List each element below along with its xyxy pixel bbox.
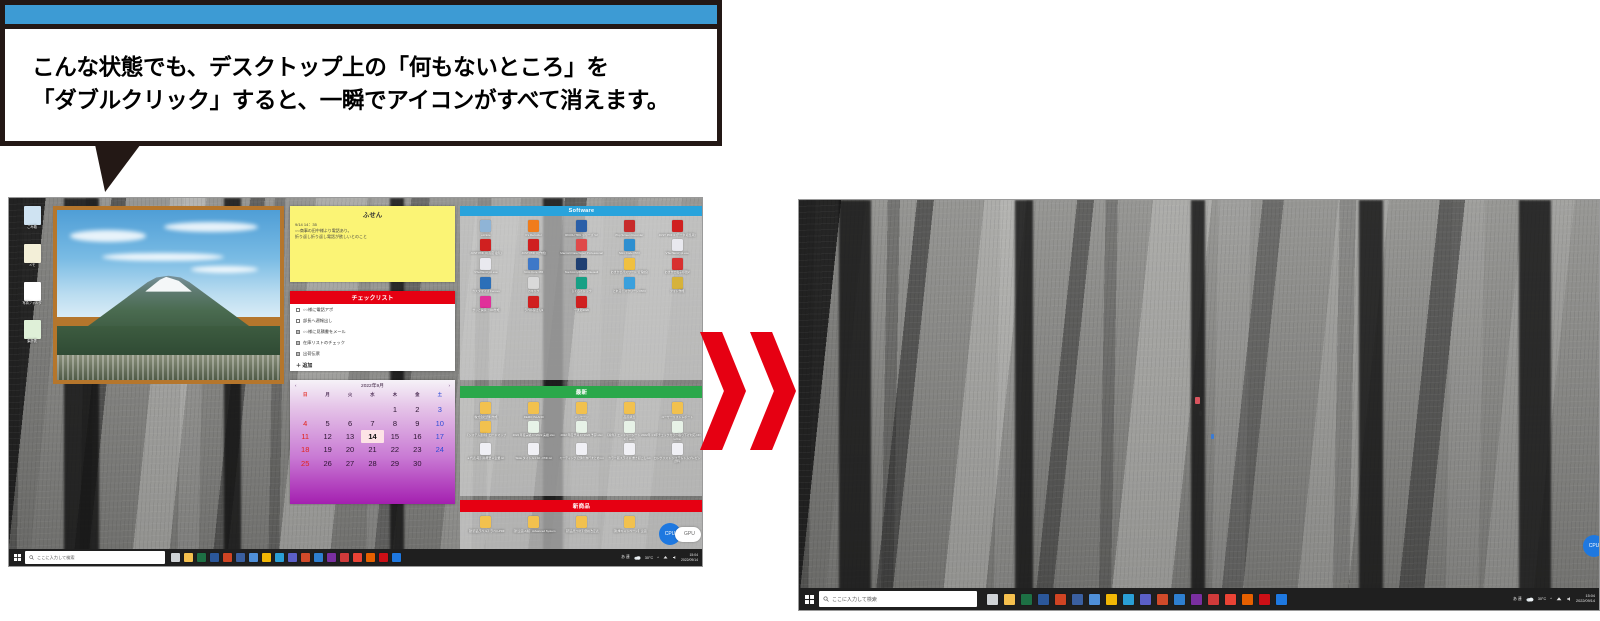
fence-item-label: NordicAnyWhere Filevault — [558, 271, 606, 274]
calendar-day-cell[interactable]: 8 — [384, 416, 406, 429]
taskbar-app-opera[interactable] — [1259, 594, 1270, 605]
callout-bubble: こんな状態でも、デスクトップ上の「何もないところ」を 「ダブルクリック」すると、… — [0, 0, 722, 155]
fence-item[interactable]: 2022 年度予算 FY2022 予算.xlsx — [558, 421, 606, 441]
photo-frame-fuji[interactable] — [53, 206, 284, 384]
fence-item-label: カスタマイズ Fences — [462, 290, 510, 293]
checkbox-icon[interactable] — [296, 330, 300, 334]
taskbar-app-chrome[interactable] — [1225, 594, 1236, 605]
taskbar-app-file-explorer[interactable] — [184, 553, 193, 562]
fence-item-icon — [480, 296, 491, 308]
taskbar-app-edge[interactable] — [1123, 594, 1134, 605]
calendar-day-cell[interactable]: 4 — [294, 416, 316, 429]
checklist-row[interactable]: 在庫リストのチェック — [290, 337, 455, 348]
calendar-day-cell[interactable]: 26 — [316, 457, 338, 470]
taskbar-app-powerpoint[interactable] — [1055, 594, 1066, 605]
fence-software-items[interactable]: eLNoteIt's RecorderRICOH TDU シリーズ V2iTop… — [460, 216, 703, 317]
sticky-note-title: ふせん — [290, 206, 455, 219]
fence-item-label: VTechEncrypt.exe — [653, 252, 701, 255]
checklist-row[interactable]: ○○様に見積書をメール — [290, 326, 455, 337]
taskbar-app-file-explorer[interactable] — [1004, 594, 1015, 605]
taskbar-app-task-view[interactable] — [987, 594, 998, 605]
taskbar-app-notepad[interactable] — [1089, 594, 1100, 605]
fence-item-icon — [480, 421, 491, 433]
fence-item[interactable]: iTop Screen Recorder — [605, 220, 653, 237]
fence-item[interactable]: eLNote — [462, 220, 510, 237]
checklist-items[interactable]: ○○様に電話アポ部長へ週報出し○○様に見積書をメール在庫リストのチェック出荷伝票 — [290, 304, 455, 359]
fence-item-label: 【新商品ラベル】ラベルPDF — [462, 530, 510, 533]
search-icon — [29, 555, 34, 560]
network-icon-after[interactable] — [1556, 596, 1562, 602]
fence-item-icon — [672, 421, 683, 433]
desktop-icon-spreadsheet-file[interactable]: 集計表 — [17, 320, 47, 344]
fence-item-icon — [576, 239, 587, 251]
fence-software-title: Software — [460, 206, 703, 216]
fence-item-label: RICOH TDU シリーズ V2 — [558, 234, 606, 237]
system-tray-before[interactable]: あ 連 30°C ^ 15:04 2022/09/14 — [621, 553, 702, 562]
fence-item-label: サッと開票！CD作成 — [462, 309, 510, 312]
fence-item-icon — [576, 421, 587, 433]
desktop-before[interactable]: ごみ箱メモ写真フォルダ集計表 ふせん 9/14 14：35○○商事の田中様より電… — [8, 197, 703, 567]
spreadsheet-file-icon — [24, 320, 41, 339]
desktop-icon-text-document[interactable]: メモ — [17, 244, 47, 268]
fence-item-label: 【システム運用】ロードマップ — [462, 434, 510, 437]
fence-item[interactable]: 品質調査 — [605, 402, 653, 419]
calendar-title: 2022年9月 — [361, 382, 384, 389]
calendar-next-button[interactable]: › — [449, 383, 451, 388]
fence-item-label: VTechEncrypt.exe — [462, 271, 510, 274]
fence-item-icon — [672, 258, 683, 270]
fence-item[interactable]: フォト作成 — [653, 277, 701, 294]
double-chevron-right-icon — [700, 332, 796, 450]
search-placeholder-after: ここに入力して検索 — [832, 596, 877, 603]
fence-item-icon — [576, 443, 587, 455]
taskbar-app-opera[interactable] — [379, 553, 388, 562]
calendar-day-cell[interactable]: 6 — [339, 416, 361, 429]
calendar-prev-button[interactable]: ‹ — [295, 383, 297, 388]
cpu-gauge-after[interactable]: CPU — [1583, 535, 1600, 557]
fuji-photo — [57, 210, 280, 380]
sticky-note-widget[interactable]: ふせん 9/14 14：35○○商事の田中様より電話あり。折り返し折り返し電話が… — [290, 206, 455, 282]
fence-item[interactable]: ラベル屋さん9 — [510, 296, 558, 313]
calendar-blank — [339, 403, 361, 416]
fence-item-label: eLNote — [462, 234, 510, 237]
calendar-day-cell[interactable]: 30 — [406, 457, 428, 470]
fence-item[interactable]: VTechEncrypt.exe — [653, 239, 701, 256]
fence-item-label: 品質調査 — [605, 416, 653, 419]
calendar-today-cell[interactable]: 14 — [361, 430, 383, 443]
checklist-row[interactable]: 部長へ週報出し — [290, 315, 455, 326]
fence-software[interactable]: Software eLNoteIt's RecorderRICOH TDU シリ… — [460, 206, 703, 380]
calendar-dow: 木 — [384, 391, 406, 399]
fence-item[interactable]: NordicAnyWhere Filevault — [558, 258, 606, 275]
calendar-blank — [316, 403, 338, 416]
calendar-dow: 月 — [316, 391, 338, 399]
fence-item[interactable]: ロングリスト システムトムプレゼン資料 — [653, 443, 701, 463]
recycle-bin-icon — [24, 206, 41, 225]
fence-item[interactable]: Slide タイトル1 02 - PDF.txt — [510, 443, 558, 463]
fence-item-label: Macrorit Data Wiper Professional — [558, 252, 606, 255]
taskbar-app-browser[interactable] — [392, 553, 401, 562]
clock-after[interactable]: 15:04 2022/09/14 — [1576, 594, 1595, 603]
calendar-blank — [361, 403, 383, 416]
checklist-label: 在庫リストのチェック — [303, 340, 345, 346]
fence-latest-title: 最新 — [460, 386, 703, 398]
fence-item-icon — [624, 277, 635, 289]
taskbar-app-excel[interactable] — [197, 553, 206, 562]
fence-item-label: おまかせパスワード 管理[超] — [605, 271, 653, 274]
fence-item[interactable]: JUST PDF 4 [高度 電気] — [462, 239, 510, 256]
fence-item[interactable]: ミーティング記録の進行まとめ.txt — [558, 443, 606, 463]
checklist-row[interactable]: 出荷伝票 — [290, 348, 455, 359]
calendar-day-cell[interactable]: 17 — [429, 430, 451, 443]
callout-tail — [95, 144, 151, 192]
tray-chevron-up-icon[interactable]: ^ — [657, 556, 659, 560]
taskbar-apps-after[interactable] — [987, 594, 1287, 605]
desktop-after[interactable]: CPU ここに入力して検索 あ 連 30°C ^ 15:04 2022/ — [798, 199, 1600, 611]
checkbox-icon[interactable] — [296, 352, 300, 356]
fence-item-label: フォト作成 — [653, 290, 701, 293]
calendar-day-cell[interactable]: 12 — [316, 430, 338, 443]
system-monitor-widget-before[interactable]: CPU GPU — [659, 523, 701, 545]
taskbar-app-task-view[interactable] — [171, 553, 180, 562]
fence-item-icon — [528, 239, 539, 251]
fence-new-products-title: 新商品 — [460, 500, 703, 512]
fence-item-icon — [528, 277, 539, 289]
checkbox-icon[interactable] — [296, 341, 300, 345]
calendar-day-cell[interactable]: 20 — [339, 443, 361, 456]
fence-item[interactable]: カラー版スライド 書き起こし.txt — [605, 443, 653, 463]
fence-item-label: 2022 年度実績 FY2022 実績.xlsx — [510, 434, 558, 437]
fence-item-label: メッセージ — [558, 416, 606, 419]
checklist-label: 出荷伝票 — [303, 351, 320, 357]
taskbar-app-notepad[interactable] — [249, 553, 258, 562]
fence-item-icon — [480, 277, 491, 289]
calendar-day-cell[interactable]: 13 — [339, 430, 361, 443]
checkbox-icon[interactable] — [296, 308, 300, 312]
calendar-day-cell[interactable]: 29 — [384, 457, 406, 470]
calendar-day-cell[interactable]: 5 — [316, 416, 338, 429]
fence-item-icon — [528, 258, 539, 270]
fence-item[interactable]: RICOH TDU シリーズ V2 — [558, 220, 606, 237]
checklist-label: 部長へ週報出し — [303, 318, 332, 324]
fence-item[interactable]: DEMO ISLAND — [510, 402, 558, 419]
cloud-icon-after — [1526, 596, 1534, 602]
fence-item[interactable]: 【秋季キャンペーン】企画 — [605, 516, 653, 533]
taskbar-app-star-app[interactable] — [1106, 594, 1117, 605]
fence-item-label: Nitro Core 365 — [510, 271, 558, 274]
cloud-icon — [634, 555, 641, 560]
fence-item-label: 【秋季キャンペーン】企画 — [605, 530, 653, 533]
taskbar-app-firefox[interactable] — [1242, 594, 1253, 605]
fence-item[interactable]: 株式会社資料作成 — [462, 402, 510, 419]
fence-item-icon — [672, 277, 683, 289]
desktop-icon-picture-file[interactable]: 写真フォルダ — [17, 282, 47, 306]
fence-item-label: JUST PDF 4 [高度 電気] — [462, 252, 510, 255]
fence-item-icon — [576, 516, 587, 528]
second-climber-figure — [1211, 434, 1214, 439]
fence-item[interactable]: おまかせ電子印鑑2 — [653, 258, 701, 275]
fence-item-label: らくらくドック — [558, 290, 606, 293]
fence-item-label: とれる！スクリーン PRO — [605, 290, 653, 293]
taskbar-app-photos[interactable] — [1174, 594, 1185, 605]
taskbar-before[interactable]: ここに入力して検索 あ 連 30°C ^ 15:04 2022/09/14 — [9, 549, 702, 566]
climber-figure — [1195, 397, 1200, 404]
calendar-dow-row: 日月火水木金土 — [290, 391, 455, 403]
fence-item[interactable]: 一太郎2020 — [558, 296, 606, 313]
fence-item-icon — [528, 421, 539, 433]
calendar-day-cell[interactable]: 15 — [384, 430, 406, 443]
chevron-1 — [700, 332, 746, 450]
taskbar-app-star-app[interactable] — [262, 553, 271, 562]
fence-item[interactable]: 2022 年度実績 FY2022 実績.xlsx — [510, 421, 558, 441]
desktop-icon-label: メモ — [17, 264, 47, 268]
fence-item-label: iTop Screen Recorder — [605, 234, 653, 237]
fence-item-icon — [672, 239, 683, 251]
search-input-after[interactable]: ここに入力して検索 — [819, 591, 977, 607]
calendar-day-cell[interactable]: 2 — [406, 403, 428, 416]
sticky-note-body: 9/14 14：35○○商事の田中様より電話あり。折り返し折り返し電話が欲しいと… — [290, 219, 455, 243]
fence-item-label: 【商品見つけ】価格改定表 — [558, 530, 606, 533]
fence-item-label: ユーザーリストレポート — [653, 416, 701, 419]
fence-item-icon — [528, 516, 539, 528]
climber-shadow — [1199, 411, 1202, 416]
taskbar-app-excel[interactable] — [1021, 594, 1032, 605]
fence-item-label: JUST PDF 4 [データ 収集版] — [653, 234, 701, 237]
calendar-day-cell[interactable]: 27 — [339, 457, 361, 470]
taskbar-app-teams[interactable] — [288, 553, 297, 562]
checkbox-icon[interactable] — [296, 319, 300, 323]
calendar-day-cell[interactable]: 22 — [384, 443, 406, 456]
weather-temp-before[interactable]: 30°C — [645, 556, 653, 560]
fence-item-icon — [480, 239, 491, 251]
fence-item-icon — [624, 516, 635, 528]
fence-item-label: Slide タイトル1 02 - PDF.txt — [510, 457, 558, 460]
fence-item-icon — [624, 402, 635, 414]
taskbar-app-word[interactable] — [1038, 594, 1049, 605]
calendar-day-cell[interactable]: 25 — [294, 457, 316, 470]
fence-item[interactable]: a 代表・取引先概要 a 企業.txt — [462, 443, 510, 463]
system-tray-after[interactable]: あ 連 30°C ^ 15:04 2022/09/14 — [1513, 594, 1599, 603]
fence-item-label: ロングリスト システムトムプレゼン資料 — [653, 457, 701, 464]
fence-latest[interactable]: 最新 株式会社資料作成DEMO ISLANDメッセージ品質調査ユーザーリストレポ… — [460, 386, 703, 496]
ime-indicator-before[interactable]: あ 連 — [621, 555, 630, 560]
calendar-nav[interactable]: ‹ 2022年9月 › — [290, 380, 455, 391]
calendar-day-cell[interactable]: 3 — [429, 403, 451, 416]
page-root: こんな状態でも、デスクトップ上の「何もないところ」を 「ダブルクリック」すると、… — [0, 0, 1600, 621]
checklist-label: ○○様に見積書をメール — [303, 329, 346, 335]
desktop-icon-label: 集計表 — [17, 340, 47, 344]
fence-item[interactable]: 【新企画 A案】Advanced System — [510, 516, 558, 533]
fence-item-label: DEMO ISLAND — [510, 416, 558, 419]
calendar-day-cell[interactable]: 28 — [361, 457, 383, 470]
fence-item[interactable]: カキソク — [510, 277, 558, 294]
fence-item[interactable]: らくらくドック — [558, 277, 606, 294]
taskbar-app-browser[interactable] — [1276, 594, 1287, 605]
calendar-day-cell[interactable]: 11 — [294, 430, 316, 443]
taskbar-app-teams[interactable] — [1140, 594, 1151, 605]
taskbar-app-powerpoint[interactable] — [223, 553, 232, 562]
taskbar-app-mail[interactable] — [236, 553, 245, 562]
taskbar-app-edge[interactable] — [275, 553, 284, 562]
search-icon-after — [823, 596, 829, 602]
calendar-day-cell[interactable]: 18 — [294, 443, 316, 456]
calendar-day-cell[interactable]: 21 — [361, 443, 383, 456]
fence-item-icon — [528, 296, 539, 308]
calendar-day-cell[interactable]: 16 — [406, 430, 428, 443]
fence-item-label: JUST PDF 4 [作成] — [510, 252, 558, 255]
calendar-blank — [294, 403, 316, 416]
taskbar-apps-before[interactable] — [171, 553, 401, 562]
fence-item[interactable]: JUST PDF 4 [作成] — [510, 239, 558, 256]
calendar-day-cell[interactable]: 23 — [406, 443, 428, 456]
fence-item-label: It's Recorder — [510, 234, 558, 237]
system-monitor-widget-after[interactable]: CPU — [1583, 535, 1600, 557]
desktop-icon-label: ごみ箱 — [17, 226, 47, 230]
windows-start-icon[interactable] — [9, 554, 25, 561]
fence-item-icon — [624, 258, 635, 270]
calendar-day-cell[interactable]: 7 — [361, 416, 383, 429]
fence-item-label: Nitro Code PRO — [605, 252, 653, 255]
fence-item-icon — [576, 277, 587, 289]
fence-latest-items[interactable]: 株式会社資料作成DEMO ISLANDメッセージ品質調査ユーザーリストレポート【… — [460, 398, 703, 468]
fence-item-label: 【案件】エントリーシート 2022年 12月.docx — [605, 434, 653, 441]
fence-item[interactable]: 【案件】エントリーシート 2022年 12月.docx — [605, 421, 653, 441]
wallpaper-cliff-after — [799, 200, 1599, 610]
fence-item[interactable]: サッと開票！CD作成 — [462, 296, 510, 313]
gpu-gauge[interactable]: GPU — [675, 527, 701, 542]
fence-item-icon — [624, 421, 635, 433]
fence-item[interactable]: JUST PDF 4 [データ 収集版] — [653, 220, 701, 237]
fence-item[interactable]: メッセージ — [558, 402, 606, 419]
calendar-day-cell[interactable]: 1 — [384, 403, 406, 416]
chevron-2 — [750, 332, 796, 450]
fence-item[interactable]: ユーザーリストレポート — [653, 402, 701, 419]
taskbar-app-mail[interactable] — [1072, 594, 1083, 605]
search-placeholder-before: ここに入力して検索 — [37, 555, 75, 561]
calendar-day-grid[interactable]: 1234567891011121314151617181920212223242… — [290, 403, 455, 474]
calendar-dow: 水 — [361, 391, 383, 399]
calendar-day-cell[interactable]: 19 — [316, 443, 338, 456]
taskbar-app-calculator[interactable] — [301, 553, 310, 562]
fence-item-icon — [672, 443, 683, 455]
fence-item-label: 3年チェックカラー取り下げ対応 NOL2Ca — [653, 434, 701, 441]
fence-item-label: ミーティング記録の進行まとめ.txt — [558, 457, 606, 460]
callout-top-bar — [0, 0, 722, 24]
calendar-day-cell[interactable]: 9 — [406, 416, 428, 429]
taskbar-app-store[interactable] — [1208, 594, 1219, 605]
taskbar-after[interactable]: ここに入力して検索 あ 連 30°C ^ 15:04 2022/09/14 — [799, 588, 1599, 610]
fence-item[interactable]: VTechEncrypt.exe — [462, 258, 510, 275]
text-document-icon — [24, 244, 41, 263]
fence-item[interactable]: Macrorit Data Wiper Professional — [558, 239, 606, 256]
fence-item[interactable]: Nitro Code PRO — [605, 239, 653, 256]
checklist-label: ○○様に電話アポ — [303, 307, 333, 313]
fence-item-icon — [672, 220, 683, 232]
calendar-dow: 金 — [406, 391, 428, 399]
fence-item-icon — [480, 258, 491, 270]
picture-file-icon — [24, 282, 41, 301]
tray-chevron-up-icon-after[interactable]: ^ — [1550, 597, 1552, 601]
taskbar-app-calculator[interactable] — [1157, 594, 1168, 605]
calendar-dow: 土 — [429, 391, 451, 399]
fence-item-icon — [480, 402, 491, 414]
calendar-dow: 火 — [339, 391, 361, 399]
fence-item-label: 株式会社資料作成 — [462, 416, 510, 419]
fence-item[interactable]: 【商品見つけ】価格改定表 — [558, 516, 606, 533]
fence-item-icon — [576, 296, 587, 308]
fence-item-label: カラー版スライド 書き起こし.txt — [605, 457, 653, 460]
weather-temp-after[interactable]: 30°C — [1538, 597, 1546, 601]
callout-body: こんな状態でも、デスクトップ上の「何もないところ」を 「ダブルクリック」すると、… — [0, 24, 722, 146]
fence-item-icon — [480, 220, 491, 232]
fence-item[interactable]: Nitro Core 365 — [510, 258, 558, 275]
fence-item-icon — [624, 239, 635, 251]
fence-item-label: ラベル屋さん9 — [510, 309, 558, 312]
checklist-row[interactable]: ○○様に電話アポ — [290, 304, 455, 315]
taskbar-app-onenote[interactable] — [327, 553, 336, 562]
fence-item-icon — [528, 443, 539, 455]
clock-before[interactable]: 15:04 2022/09/14 — [681, 553, 698, 562]
fence-item-icon — [624, 220, 635, 232]
taskbar-app-word[interactable] — [210, 553, 219, 562]
fence-item-icon — [624, 443, 635, 455]
fence-item[interactable]: 【システム運用】ロードマップ — [462, 421, 510, 441]
ime-indicator-after[interactable]: あ 連 — [1513, 597, 1522, 602]
fence-item-label: 一太郎2020 — [558, 309, 606, 312]
fence-item[interactable]: とれる！スクリーン PRO — [605, 277, 653, 294]
taskbar-app-chrome[interactable] — [353, 553, 362, 562]
fence-item-icon — [528, 402, 539, 414]
taskbar-app-onenote[interactable] — [1191, 594, 1202, 605]
fence-item[interactable]: It's Recorder — [510, 220, 558, 237]
checklist-title: チェックリスト — [290, 291, 455, 304]
fence-item[interactable]: おまかせパスワード 管理[超] — [605, 258, 653, 275]
fence-item-label: 2022 年度予算 FY2022 予算.xlsx — [558, 434, 606, 437]
fence-item-icon — [528, 220, 539, 232]
fence-item-label: カキソク — [510, 290, 558, 293]
network-icon[interactable] — [663, 555, 668, 560]
fence-item[interactable]: 【新商品ラベル】ラベルPDF — [462, 516, 510, 533]
fence-item[interactable]: 3年チェックカラー取り下げ対応 NOL2Ca — [653, 421, 701, 441]
fence-item-label: 【新企画 A案】Advanced System — [510, 530, 558, 533]
search-input-before[interactable]: ここに入力して検索 — [25, 551, 165, 564]
taskbar-app-photos[interactable] — [314, 553, 323, 562]
windows-start-icon-after[interactable] — [799, 595, 819, 604]
fence-item-icon — [672, 402, 683, 414]
calendar-day-cell[interactable]: 10 — [429, 416, 451, 429]
fence-item-icon — [576, 258, 587, 270]
fence-item-icon — [480, 516, 491, 528]
sticky-note-line: 折り返し折り返し電話が欲しいとのこと — [295, 234, 450, 240]
volume-icon-after[interactable] — [1566, 596, 1572, 602]
desktop-icon-recycle-bin[interactable]: ごみ箱 — [17, 206, 47, 230]
checklist-widget[interactable]: チェックリスト ○○様に電話アポ部長へ週報出し○○様に見積書をメール在庫リストの… — [290, 291, 455, 371]
fence-item-label: おまかせ電子印鑑2 — [653, 271, 701, 274]
fence-item[interactable]: カスタマイズ Fences — [462, 277, 510, 294]
fence-item-icon — [576, 402, 587, 414]
fence-item-icon — [480, 443, 491, 455]
taskbar-app-firefox[interactable] — [366, 553, 375, 562]
callout-text: こんな状態でも、デスクトップ上の「何もないところ」を 「ダブルクリック」すると、… — [5, 52, 669, 117]
fence-item-label: a 代表・取引先概要 a 企業.txt — [462, 457, 510, 460]
calendar-dow: 日 — [294, 391, 316, 399]
fence-item-icon — [576, 220, 587, 232]
taskbar-app-store[interactable] — [340, 553, 349, 562]
calendar-day-cell[interactable]: 24 — [429, 443, 451, 456]
volume-icon[interactable] — [672, 555, 677, 560]
calendar-widget[interactable]: ‹ 2022年9月 › 日月火水木金土 12345678910111213141… — [290, 380, 455, 504]
checklist-add-button[interactable]: ＋ 追加 — [290, 359, 455, 372]
